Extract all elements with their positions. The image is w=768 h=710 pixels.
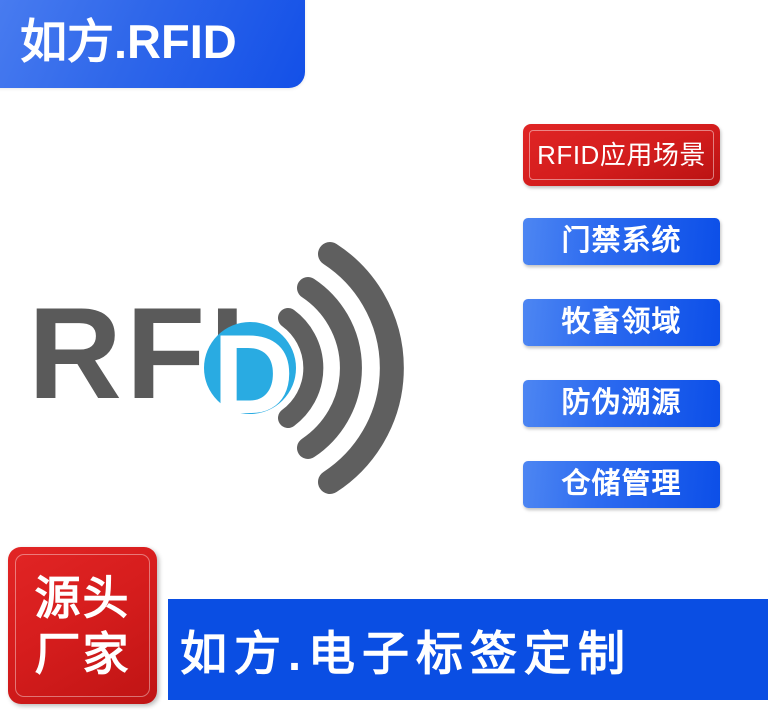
rfid-logo: RFI D (20, 210, 470, 530)
tag-header-rfid-scenarios[interactable]: RFID应用场景 (523, 124, 720, 186)
tag-label: 仓储管理 (561, 470, 681, 499)
application-tag-stack: RFID应用场景 门禁系统 牧畜领域 防伪溯源 仓储管理 (523, 124, 721, 508)
tag-livestock[interactable]: 牧畜领域 (523, 299, 720, 346)
tag-header-label: RFID应用场景 (537, 142, 706, 168)
source-manufacturer-badge: 源头 厂家 (8, 547, 157, 704)
brand-banner-text: 如方.RFID (20, 12, 237, 72)
rfid-logo-svg: RFI D (20, 210, 470, 530)
tag-anti-counterfeit-traceability[interactable]: 防伪溯源 (523, 380, 720, 427)
tag-label: 门禁系统 (561, 227, 681, 256)
tag-label: 防伪溯源 (561, 389, 681, 418)
rfid-product-poster: 如方.RFID RFI D RFID应用场景 门禁系统 牧畜领域 (0, 0, 768, 710)
rfid-signal-waves (288, 254, 392, 482)
footer-bar: 如方.电子标签定制 (168, 599, 768, 700)
footer-bar-text: 如方.电子标签定制 (168, 615, 632, 684)
tag-access-control[interactable]: 门禁系统 (523, 218, 720, 265)
tag-warehouse-management[interactable]: 仓储管理 (523, 461, 720, 508)
brand-banner: 如方.RFID (0, 0, 305, 88)
source-badge-line-1: 源头 (35, 570, 131, 626)
tag-label: 牧畜领域 (561, 308, 681, 337)
source-badge-line-2: 厂家 (35, 626, 131, 682)
